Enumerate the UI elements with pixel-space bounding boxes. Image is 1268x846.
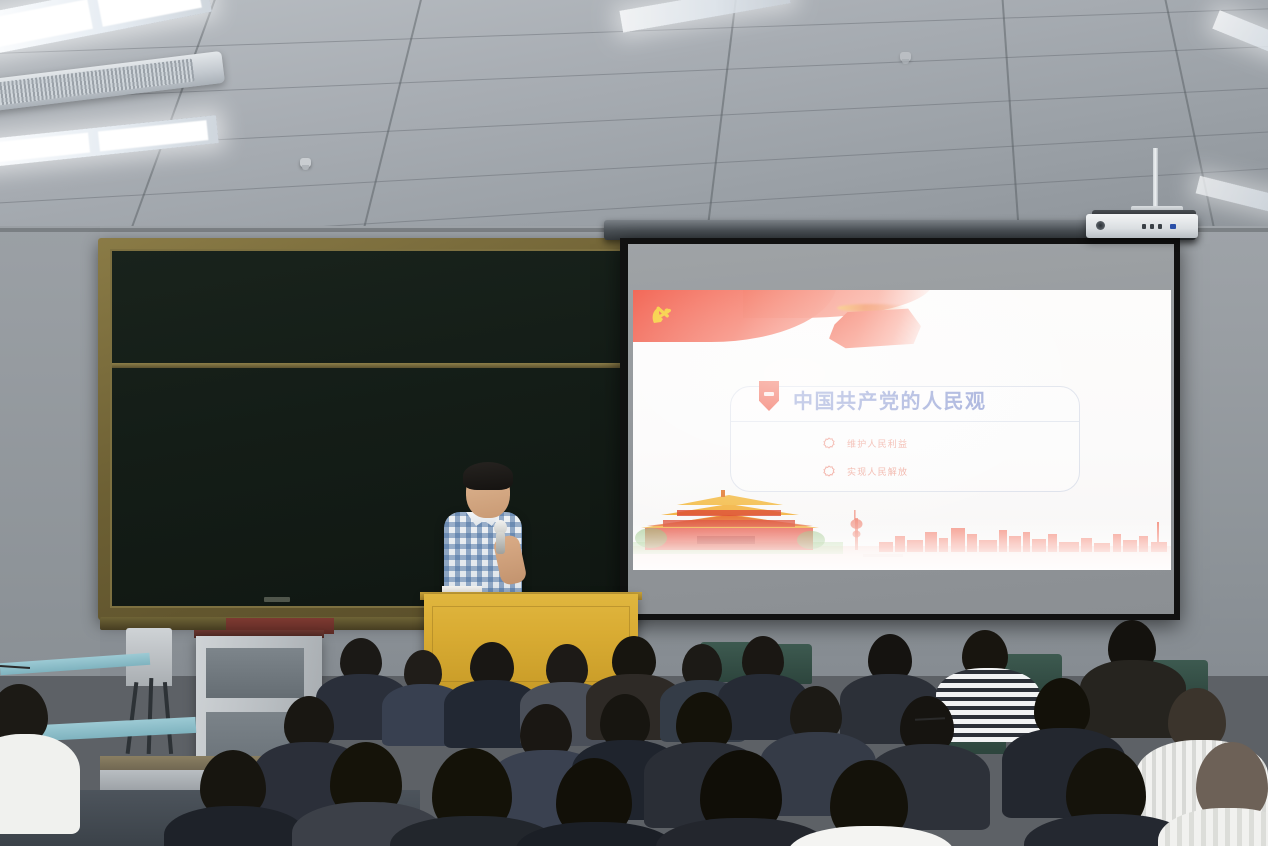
presentation-slide: 中国共产党的人民观 维护人民利益 实现人民解放 (633, 290, 1171, 570)
slide-bullet-text: 维护人民利益 (847, 437, 908, 450)
audience-torso (0, 734, 80, 834)
slide-bullet-item: 维护人民利益 (823, 431, 908, 455)
shield-inner-bar-icon (764, 392, 774, 396)
ceiling-sprinkler-head (900, 52, 911, 61)
ceiling (0, 0, 1268, 238)
card-divider (731, 421, 1079, 422)
projector-mount-pole (1153, 148, 1158, 210)
classroom-photo-scene: 中国共产党的人民观 维护人民利益 实现人民解放 (0, 0, 1268, 846)
slide-bullet-item: 实现人民解放 (823, 459, 908, 483)
projector-lens (1096, 221, 1105, 230)
flower-bullet-icon (823, 437, 835, 449)
student-desk (0, 653, 150, 675)
blackboard-divider-rail (112, 363, 624, 368)
slide-bullet-list: 维护人民利益 实现人民解放 (823, 431, 908, 487)
shield-marker-icon (759, 381, 779, 411)
blackboard (98, 238, 638, 620)
flower-bullet-icon (823, 465, 835, 477)
artwork-fog-overlay (633, 516, 1171, 570)
hammer-and-sickle-emblem (647, 302, 681, 332)
projector-indicator-led (1170, 224, 1176, 229)
projector-port (1142, 224, 1146, 229)
presenter-hair (463, 462, 513, 490)
microphone-body (496, 532, 505, 554)
ceiling-sprinkler-head (300, 158, 311, 167)
slide-title: 中国共产党的人民观 (793, 385, 987, 414)
slide-content-card: 中国共产党的人民观 维护人民利益 实现人民解放 (730, 386, 1080, 492)
projector-port (1158, 224, 1162, 229)
audience (0, 600, 1268, 846)
slide-bullet-text: 实现人民解放 (847, 465, 908, 478)
projector-port (1150, 224, 1154, 229)
